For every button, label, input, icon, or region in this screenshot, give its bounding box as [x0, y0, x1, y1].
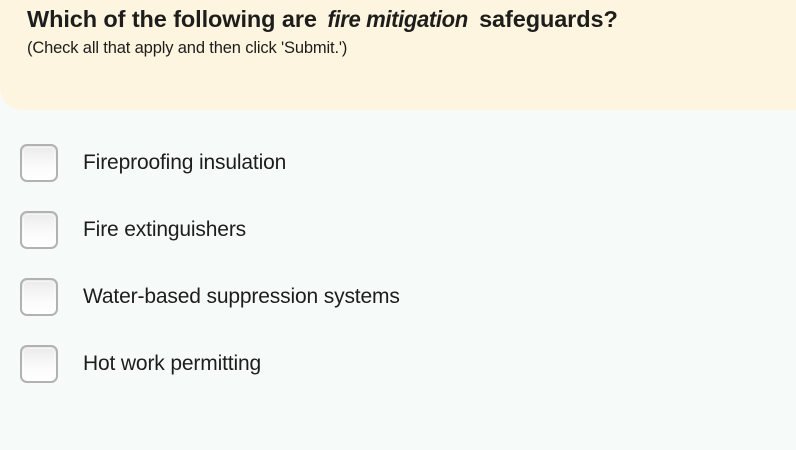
question-title-suffix: safeguards? — [473, 6, 618, 32]
checkbox-icon[interactable] — [20, 211, 58, 249]
answer-options-list: Fireproofing insulation Fire extinguishe… — [0, 144, 796, 412]
question-title-prefix: Which of the following are — [27, 6, 323, 32]
checkbox-icon[interactable] — [20, 345, 58, 383]
option-row[interactable]: Fire extinguishers — [0, 211, 796, 249]
option-label[interactable]: Water-based suppression systems — [83, 285, 400, 309]
question-title-emphasis: fire mitigation — [328, 4, 468, 34]
question-instructions: (Check all that apply and then click 'Su… — [27, 34, 776, 59]
question-title: Which of the following are fire mitigati… — [27, 4, 776, 34]
question-panel: Which of the following are fire mitigati… — [0, 0, 796, 110]
option-row[interactable]: Fireproofing insulation — [0, 144, 796, 182]
checkbox-icon[interactable] — [20, 144, 58, 182]
option-row[interactable]: Hot work permitting — [0, 345, 796, 383]
option-label[interactable]: Fire extinguishers — [83, 218, 246, 242]
checkbox-icon[interactable] — [20, 278, 58, 316]
option-label[interactable]: Fireproofing insulation — [83, 151, 286, 175]
option-label[interactable]: Hot work permitting — [83, 352, 261, 376]
option-row[interactable]: Water-based suppression systems — [0, 278, 796, 316]
